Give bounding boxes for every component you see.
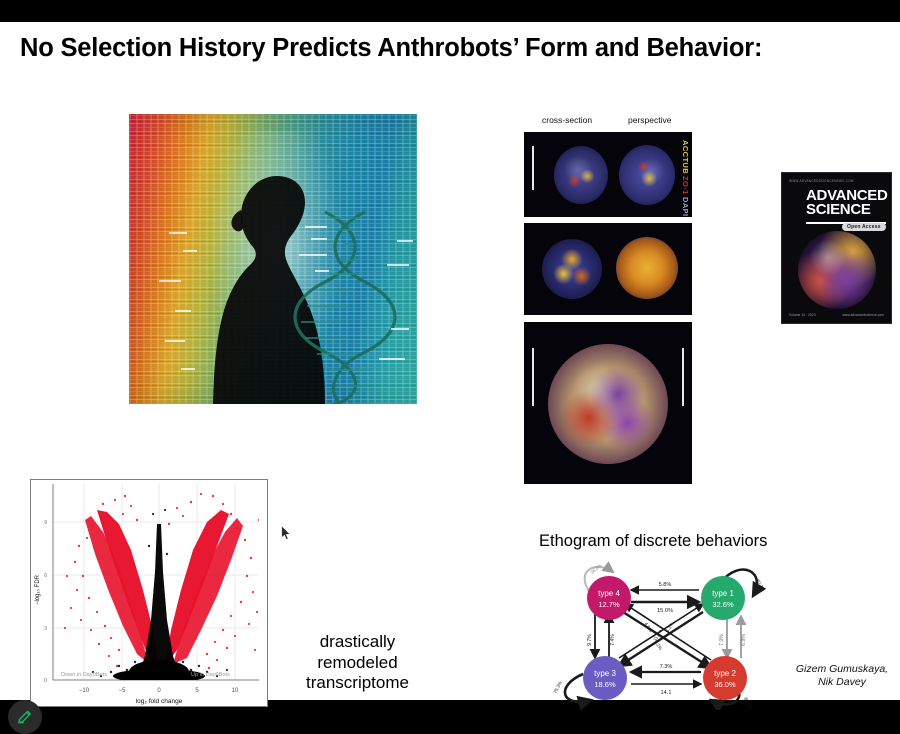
attribution-line-2: Nik Davey bbox=[788, 676, 896, 689]
cover-top-line: WWW.ADVANCEDSCIENCENEWS.COM bbox=[789, 179, 854, 183]
edge-label-type2-type3: 7.3% bbox=[660, 664, 673, 670]
pencil-icon bbox=[16, 708, 34, 726]
slide-canvas: No Selection History Predicts Anthrobots… bbox=[0, 22, 900, 700]
open-access-badge: Open Access bbox=[842, 223, 886, 231]
node-type4-value: 12.7% bbox=[598, 600, 620, 609]
channel-zo1: ZO-1 bbox=[682, 176, 690, 195]
microscopy-panel-cilia bbox=[524, 223, 692, 315]
attribution: Gizem Gumuskaya, Nik Davey bbox=[788, 663, 896, 689]
node-type2-label: type 2 bbox=[714, 669, 736, 678]
node-type2: type 2 36.0% bbox=[703, 656, 747, 700]
node-type4-label: type 4 bbox=[598, 589, 620, 598]
edge-label-type1-type4: 5.8% bbox=[659, 582, 672, 588]
svg-text:6: 6 bbox=[44, 573, 47, 579]
node-type1-value: 32.6% bbox=[712, 600, 734, 609]
node-type1-label: type 1 bbox=[712, 589, 734, 598]
annotation-up: Up in Day0Bots bbox=[191, 672, 230, 678]
scale-bar bbox=[532, 348, 534, 406]
svg-text:3: 3 bbox=[44, 626, 47, 632]
x-axis-label: log₂ fold change bbox=[136, 698, 183, 705]
letterbox-top bbox=[0, 0, 900, 22]
edge-label-type3-type4: 7.4% bbox=[610, 634, 616, 646]
channel-acctub: ACCTUB bbox=[682, 140, 690, 174]
svg-text:10: 10 bbox=[232, 688, 239, 694]
edge-type4-type2 bbox=[623, 612, 711, 668]
microscopy-column-labels: cross-section perspective bbox=[524, 115, 692, 129]
annotation-down: Down in Day0Bots bbox=[61, 672, 107, 678]
self-label-type3: 75.3% bbox=[552, 680, 563, 694]
self-label-type2: 80.0% bbox=[743, 696, 754, 710]
node-type1: type 1 32.6% bbox=[701, 576, 745, 620]
channel-dapi: DAPI bbox=[682, 197, 690, 217]
volcano-plot-svg: 9 6 3 0 −10 −5 0 5 10 bbox=[31, 480, 267, 706]
svg-text:0: 0 bbox=[44, 678, 47, 684]
edge-label-type1-type2: 7.0% bbox=[719, 634, 725, 646]
organoid-cilia-left bbox=[542, 239, 602, 299]
node-type2-value: 36.0% bbox=[714, 680, 736, 689]
page-title: No Selection History Predicts Anthrobots… bbox=[20, 34, 890, 63]
presentation-slide: No Selection History Predicts Anthrobots… bbox=[0, 0, 900, 720]
edge-label-type4-type3: 9.7% bbox=[587, 634, 593, 646]
organoid-cross-section bbox=[554, 146, 608, 204]
mouse-cursor bbox=[281, 525, 292, 541]
microscopy-panel-anthrobot-overview bbox=[524, 322, 692, 484]
edge-label-type4-type1: 15.0% bbox=[657, 608, 673, 614]
svg-text:9: 9 bbox=[44, 520, 47, 526]
cover-masthead: ADVANCED SCIENCE bbox=[806, 189, 888, 217]
organoid-perspective bbox=[619, 145, 675, 205]
microscopy-panel-confocal-dapi: ACCTUB ZO-1 DAPI bbox=[524, 132, 692, 217]
cover-bottom-left: Volume 10 · 2023 bbox=[789, 313, 816, 317]
node-type4: type 4 12.7% bbox=[587, 576, 631, 620]
ethogram-title: Ethogram of discrete behaviors bbox=[539, 532, 767, 551]
edge-type1-type3 bbox=[619, 612, 703, 666]
node-type3-label: type 3 bbox=[594, 669, 616, 678]
edge-label-type2-type1: 6.9% bbox=[741, 634, 747, 646]
annotation-pen-button[interactable] bbox=[8, 700, 42, 734]
volcano-plot: 9 6 3 0 −10 −5 0 5 10 bbox=[30, 479, 268, 707]
cover-organoid-image bbox=[798, 231, 876, 309]
y-axis-label: −log₁₀ FDR bbox=[35, 574, 41, 605]
self-label-type4: 38.8% bbox=[589, 563, 602, 575]
node-type3-value: 18.6% bbox=[594, 680, 616, 689]
caption-line-3: transcriptome bbox=[290, 673, 425, 694]
channel-legend: ACCTUB ZO-1 DAPI bbox=[674, 140, 689, 216]
svg-text:−5: −5 bbox=[119, 688, 127, 694]
dna-human-silhouette-image bbox=[129, 114, 417, 404]
scale-bar-right bbox=[682, 348, 684, 406]
silhouette-and-helix bbox=[129, 114, 417, 404]
ethogram-svg: type 4 12.7% type 1 32.6% type 3 18.6% t… bbox=[535, 550, 785, 710]
cover-masthead-line2: SCIENCE bbox=[806, 203, 888, 217]
edge-label-type3-type1: 7.2% bbox=[653, 639, 663, 651]
label-perspective: perspective bbox=[628, 115, 671, 125]
journal-cover-advanced-science: WWW.ADVANCEDSCIENCENEWS.COM ADVANCED SCI… bbox=[781, 172, 892, 324]
caption-line-2: remodeled bbox=[290, 653, 425, 674]
anthrobot-organoid bbox=[548, 344, 668, 464]
svg-text:−10: −10 bbox=[79, 688, 90, 694]
volcano-caption: drastically remodeled transcriptome bbox=[290, 632, 425, 694]
ethogram-graph: type 4 12.7% type 1 32.6% type 3 18.6% t… bbox=[535, 550, 785, 710]
scale-bar bbox=[532, 146, 534, 190]
label-cross-section: cross-section bbox=[542, 115, 592, 125]
attribution-line-1: Gizem Gumuskaya, bbox=[788, 663, 896, 676]
organoid-cilia-right bbox=[616, 237, 678, 299]
edge-label-type3-type2: 14.1 bbox=[661, 690, 672, 696]
caption-line-1: drastically bbox=[290, 632, 425, 653]
node-type3: type 3 18.6% bbox=[583, 656, 627, 700]
cover-bottom-right: www.advancedscience.com bbox=[842, 313, 884, 317]
